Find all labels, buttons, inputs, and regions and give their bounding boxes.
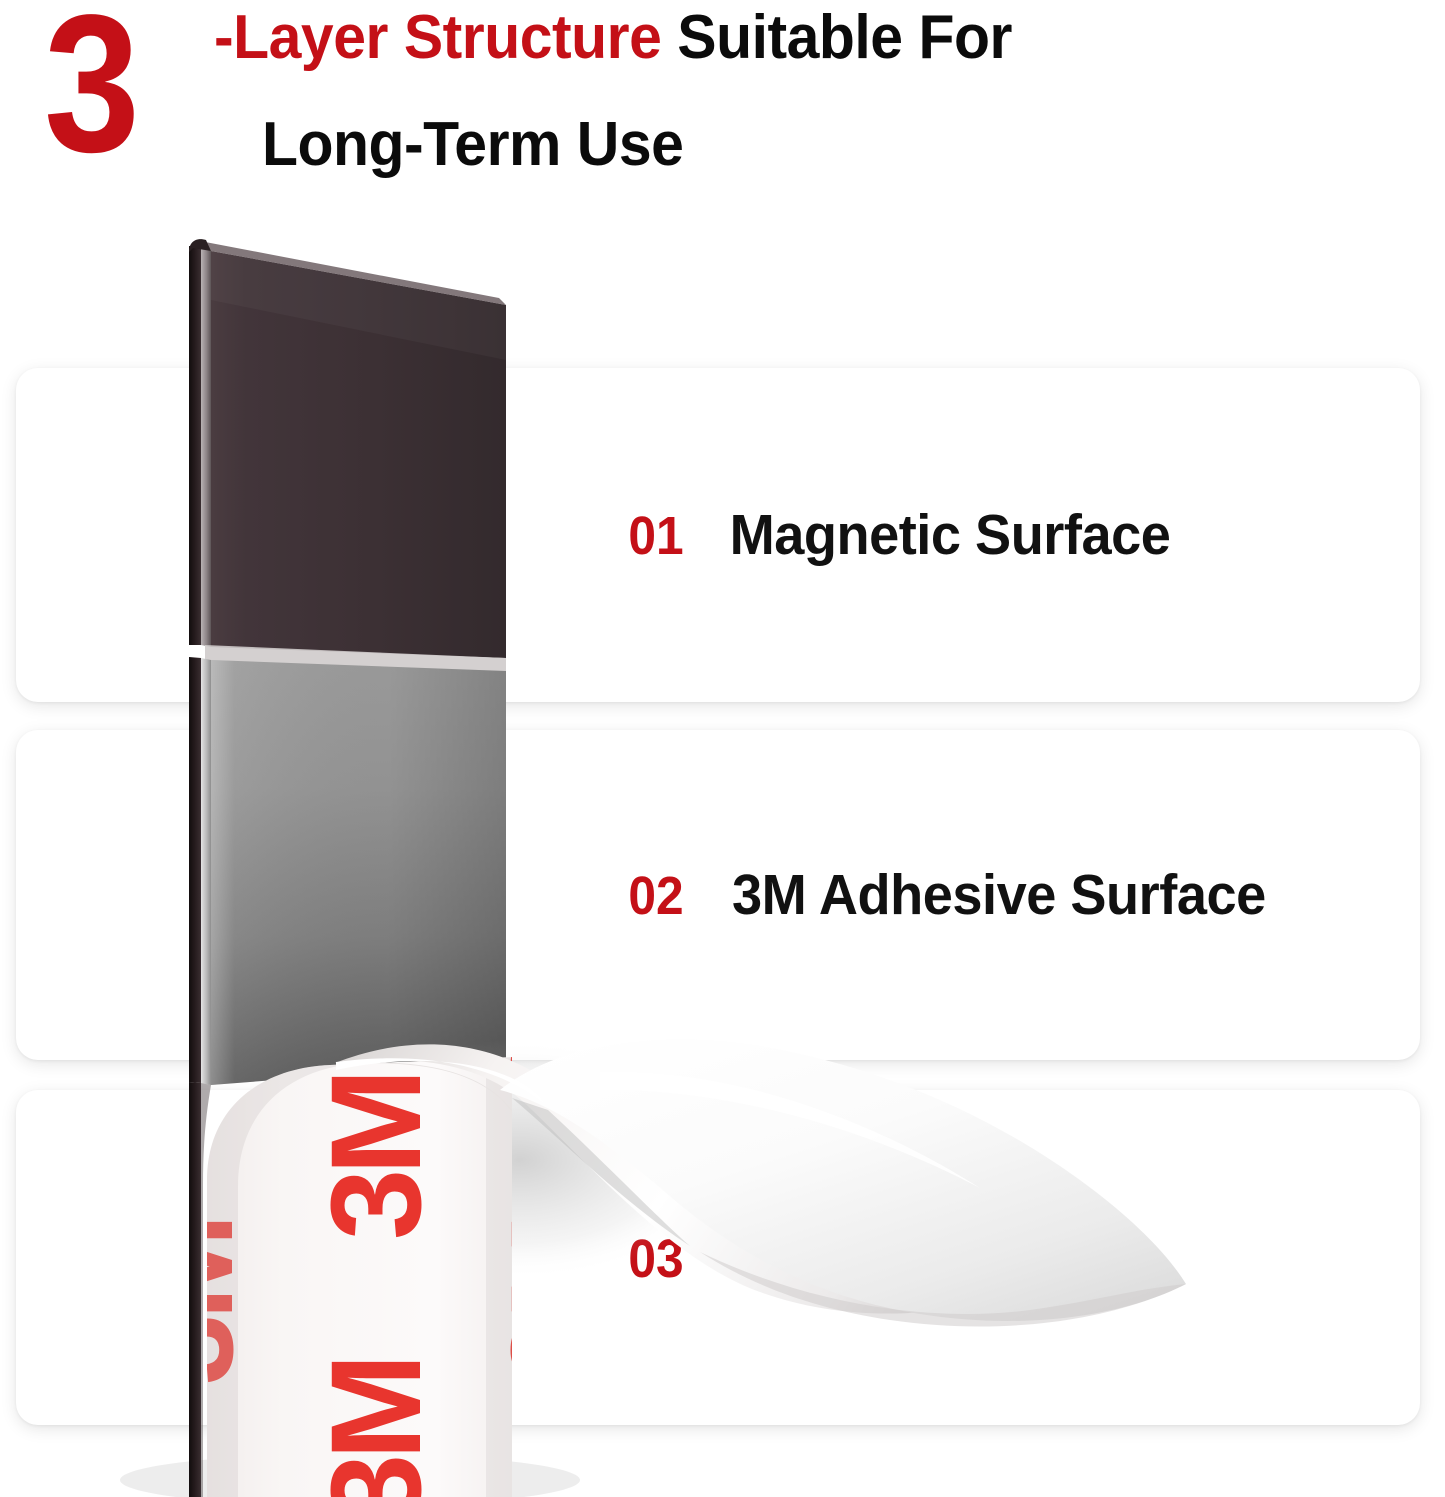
- feature-card-03-text: 03 Protective Film: [626, 1225, 1119, 1291]
- headline-part-layer-structure: -Layer Structure: [214, 3, 661, 72]
- headline-part-suitable-for: Suitable For: [661, 3, 1012, 72]
- feature-card-03: 03 Protective Film: [16, 1090, 1420, 1425]
- headline-text: -Layer Structure Suitable For Long-Term …: [214, 5, 1404, 179]
- feature-card-02-number: 02: [628, 865, 683, 927]
- feature-card-01-text: 01 Magnetic Surface: [626, 502, 1182, 568]
- feature-card-02-label: 3M Adhesive Surface: [732, 862, 1266, 928]
- feature-card-03-label: Protective Film: [728, 1225, 1109, 1291]
- feature-card-02-text: 02 3M Adhesive Surface: [626, 862, 1280, 928]
- headline-line-1: -Layer Structure Suitable For: [214, 5, 1345, 72]
- feature-card-01-number: 01: [628, 505, 683, 567]
- magnetic-layer-corner-cap: [189, 239, 211, 252]
- magnetic-layer-sheen: [211, 251, 506, 360]
- infographic-page: 3 -Layer Structure Suitable For Long-Ter…: [0, 0, 1445, 1497]
- headline-big-number: 3: [44, 0, 135, 182]
- header: 3 -Layer Structure Suitable For Long-Ter…: [0, 0, 1445, 210]
- feature-card-01-label: Magnetic Surface: [730, 502, 1171, 568]
- board-contact-shadow: [120, 1454, 580, 1497]
- feature-card-01: 01 Magnetic Surface: [16, 368, 1420, 702]
- magnetic-layer-top-bevel: [200, 241, 506, 305]
- feature-card-03-number: 03: [628, 1228, 683, 1290]
- feature-card-02: 02 3M Adhesive Surface: [16, 730, 1420, 1060]
- headline-line-2: Long-Term Use: [262, 112, 1347, 179]
